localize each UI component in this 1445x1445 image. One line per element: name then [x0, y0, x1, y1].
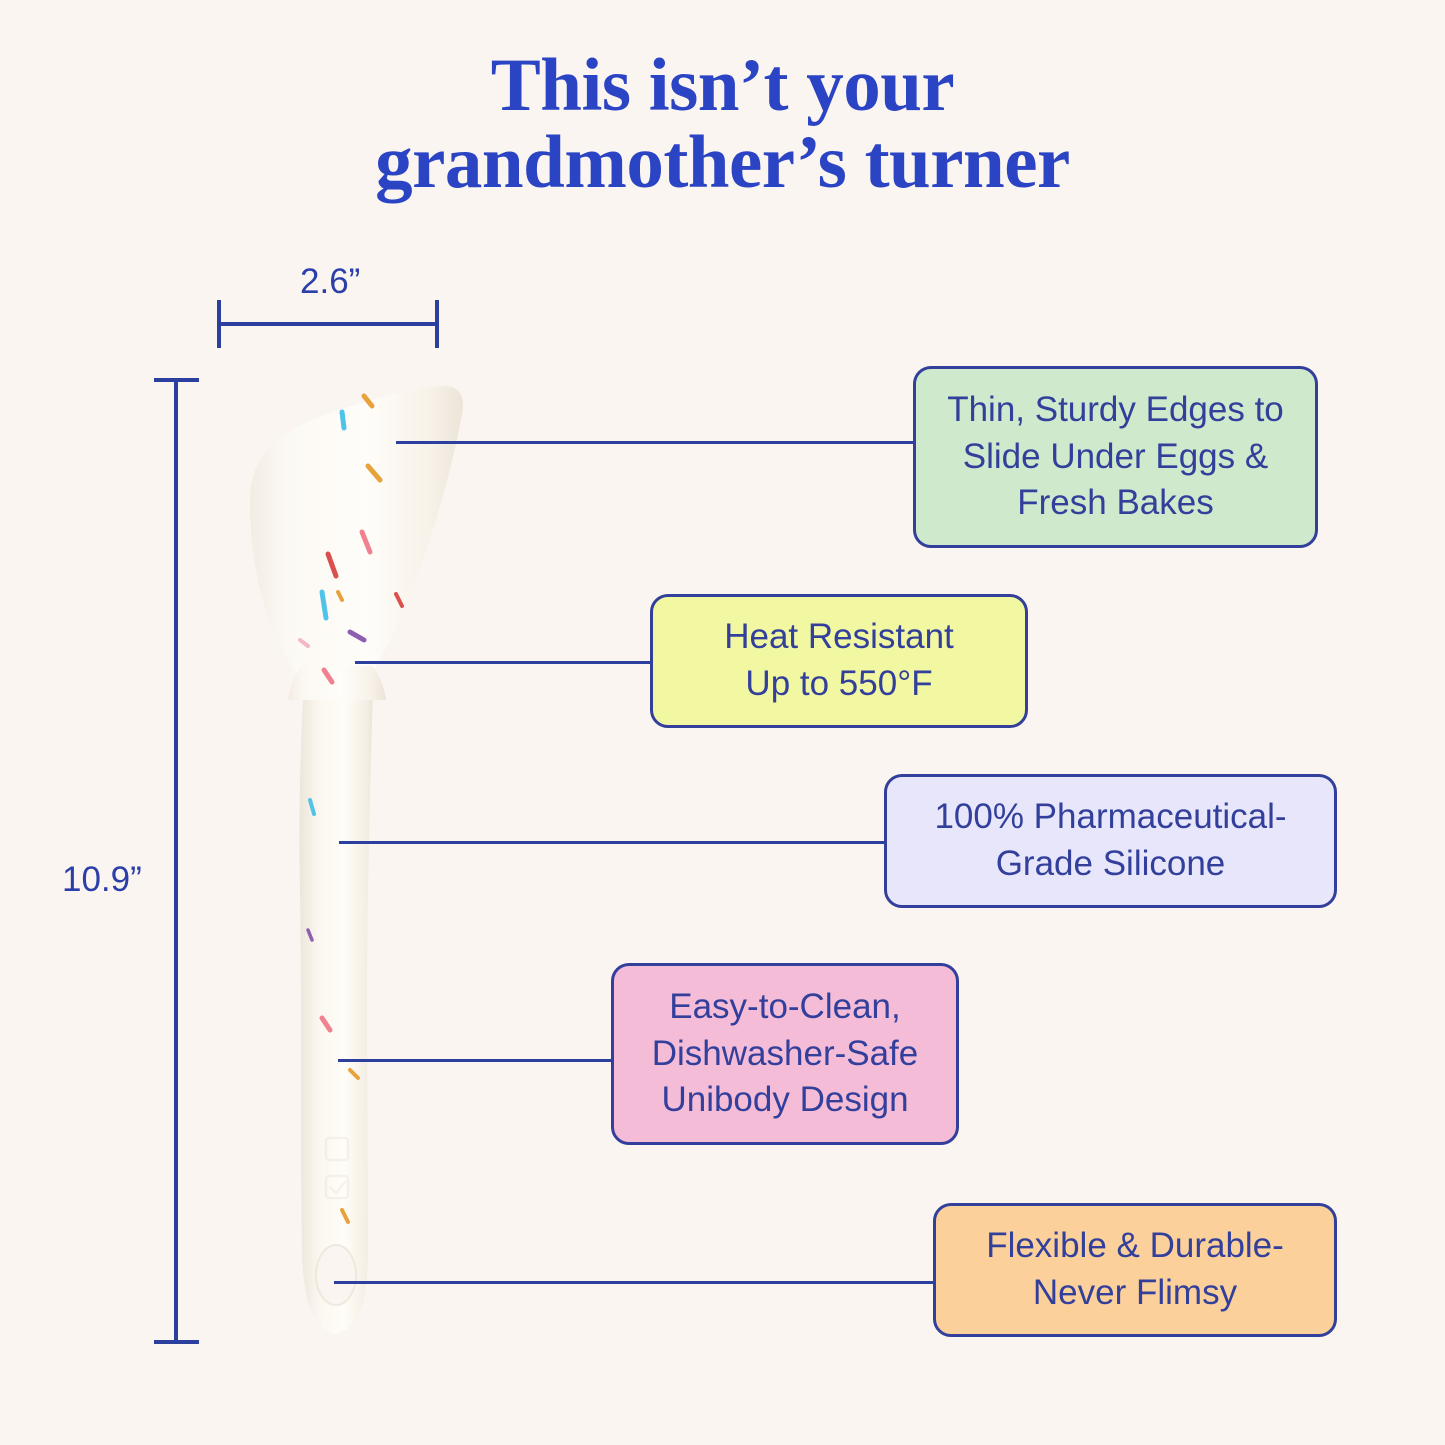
headline-line-2: grandmother’s turner [0, 125, 1445, 202]
height-dimension-bar [174, 378, 178, 1344]
spatula-handle [299, 620, 376, 1334]
leader-line-easy-to-clean [338, 1059, 614, 1062]
hanging-hole [316, 1245, 356, 1305]
callout-line: 100% Pharmaceutical- [934, 794, 1286, 841]
leader-line-thin-sturdy-edges [396, 441, 916, 444]
width-dimension-label: 2.6” [300, 262, 360, 302]
callout-easy-to-clean[interactable]: Easy-to-Clean, Dishwasher-Safe Unibody D… [611, 963, 959, 1145]
callout-line: Unibody Design [652, 1077, 919, 1124]
spatula-neck [288, 666, 386, 700]
page-title: This isn’t your grandmother’s turner [0, 48, 1445, 201]
width-dimension-cap-right [435, 300, 439, 348]
callout-pharmaceutical-grade-silicone[interactable]: 100% Pharmaceutical- Grade Silicone [884, 774, 1337, 908]
leader-line-heat-resistant [355, 661, 653, 664]
callout-line: Up to 550°F [724, 661, 954, 708]
height-dimension-label: 10.9” [62, 860, 142, 900]
callout-line: Heat Resistant [724, 614, 954, 661]
callout-line: Thin, Sturdy Edges to [947, 387, 1284, 434]
callout-line: Easy-to-Clean, [652, 984, 919, 1031]
callout-line: Fresh Bakes [947, 480, 1284, 527]
callout-heat-resistant[interactable]: Heat Resistant Up to 550°F [650, 594, 1028, 728]
callout-line: Slide Under Eggs & [947, 434, 1284, 481]
callout-thin-sturdy-edges[interactable]: Thin, Sturdy Edges to Slide Under Eggs &… [913, 366, 1318, 548]
headline-line-1: This isn’t your [0, 48, 1445, 125]
leader-line-pharmaceutical-grade-silicone [339, 841, 887, 844]
width-dimension-bar [217, 322, 439, 326]
width-dimension-cap-left [217, 300, 221, 348]
leader-line-flexible-durable [334, 1281, 936, 1284]
callout-line: Flexible & Durable- [986, 1223, 1284, 1270]
callout-flexible-durable[interactable]: Flexible & Durable- Never Flimsy [933, 1203, 1337, 1337]
callout-line: Never Flimsy [986, 1270, 1284, 1317]
spatula-illustration [190, 370, 520, 1350]
callout-line: Grade Silicone [934, 841, 1286, 888]
infographic-canvas: This isn’t your grandmother’s turner 2.6… [0, 0, 1445, 1445]
callout-line: Dishwasher-Safe [652, 1031, 919, 1078]
